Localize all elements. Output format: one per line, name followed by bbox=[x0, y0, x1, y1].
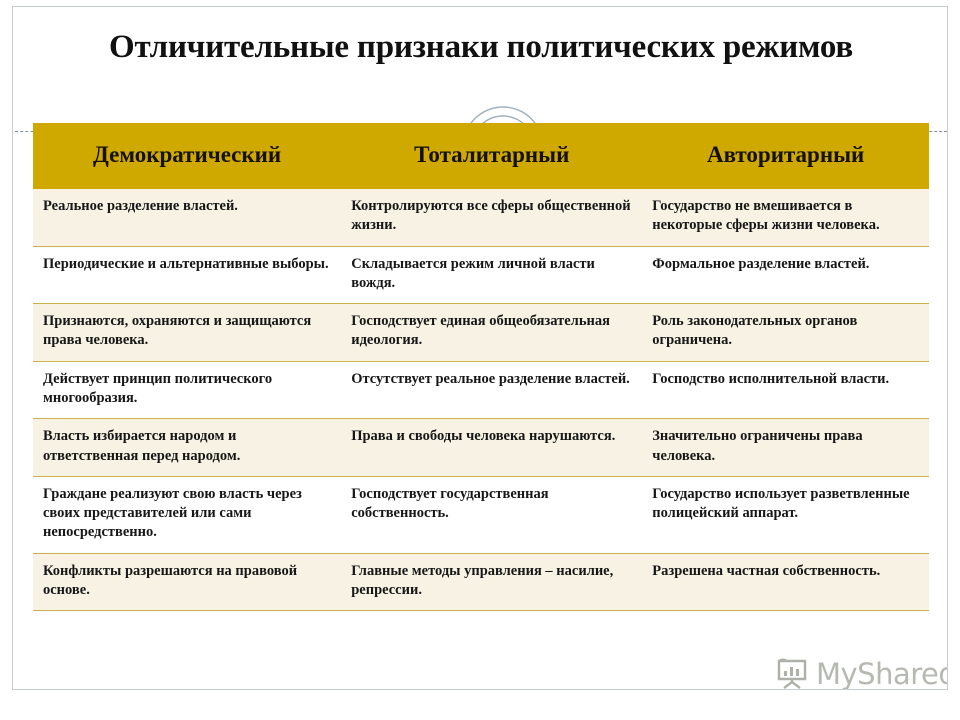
table-header-row: Демократический Тоталитарный Авторитарны… bbox=[33, 123, 929, 189]
table-cell: Власть избирается народом и ответственна… bbox=[33, 419, 341, 477]
table-cell: Разрешена частная собственность. bbox=[642, 553, 929, 611]
column-header-democratic: Демократический bbox=[33, 123, 341, 189]
table-header: Демократический Тоталитарный Авторитарны… bbox=[33, 123, 929, 189]
table-cell: Складывается режим личной власти вождя. bbox=[341, 246, 642, 304]
political-regimes-table: Демократический Тоталитарный Авторитарны… bbox=[33, 123, 929, 611]
slide-canvas: Отличительные признаки политических режи… bbox=[12, 6, 948, 690]
column-header-authoritarian: Авторитарный bbox=[642, 123, 929, 189]
table-cell: Контролируются все сферы общественной жи… bbox=[341, 189, 642, 246]
watermark: MyShared bbox=[775, 657, 948, 690]
table-cell: Господствует единая общеобязательная иде… bbox=[341, 304, 642, 362]
table-cell: Права и свободы человека нарушаются. bbox=[341, 419, 642, 477]
table-cell: Признаются, охраняются и защищаются прав… bbox=[33, 304, 341, 362]
table-cell: Роль законодательных органов ограничена. bbox=[642, 304, 929, 362]
table-row: Власть избирается народом и ответственна… bbox=[33, 419, 929, 477]
table-cell: Главные методы управления – насилие, реп… bbox=[341, 553, 642, 611]
table-cell: Государство не вмешивается в некоторые с… bbox=[642, 189, 929, 246]
table-row: Признаются, охраняются и защищаются прав… bbox=[33, 304, 929, 362]
table-cell: Господствует государственная собственнос… bbox=[341, 476, 642, 553]
presentation-viewer: Отличительные признаки политических режи… bbox=[0, 0, 960, 720]
table-cell: Господство исполнительной власти. bbox=[642, 361, 929, 419]
table-row: Граждане реализуют свою власть через сво… bbox=[33, 476, 929, 553]
table-row: Периодические и альтернативные выборы. С… bbox=[33, 246, 929, 304]
table-row: Реальное разделение властей. Контролирую… bbox=[33, 189, 929, 246]
table-cell: Периодические и альтернативные выборы. bbox=[33, 246, 341, 304]
table-body: Реальное разделение властей. Контролирую… bbox=[33, 189, 929, 611]
table-row: Конфликты разрешаются на правовой основе… bbox=[33, 553, 929, 611]
table-cell: Действует принцип политического многообр… bbox=[33, 361, 341, 419]
column-header-totalitarian: Тоталитарный bbox=[341, 123, 642, 189]
table-cell: Граждане реализуют свою власть через сво… bbox=[33, 476, 341, 553]
table-cell: Отсутствует реальное разделение властей. bbox=[341, 361, 642, 419]
table-cell: Реальное разделение властей. bbox=[33, 189, 341, 246]
presentation-board-icon bbox=[775, 657, 809, 690]
table-cell: Государство использует разветвленные пол… bbox=[642, 476, 929, 553]
comparison-table-container: Демократический Тоталитарный Авторитарны… bbox=[33, 123, 929, 611]
table-cell: Значительно ограничены права человека. bbox=[642, 419, 929, 477]
table-cell: Конфликты разрешаются на правовой основе… bbox=[33, 553, 341, 611]
watermark-label: MyShared bbox=[816, 657, 948, 690]
page-title: Отличительные признаки политических режи… bbox=[73, 25, 889, 70]
table-cell: Формальное разделение властей. bbox=[642, 246, 929, 304]
table-row: Действует принцип политического многообр… bbox=[33, 361, 929, 419]
